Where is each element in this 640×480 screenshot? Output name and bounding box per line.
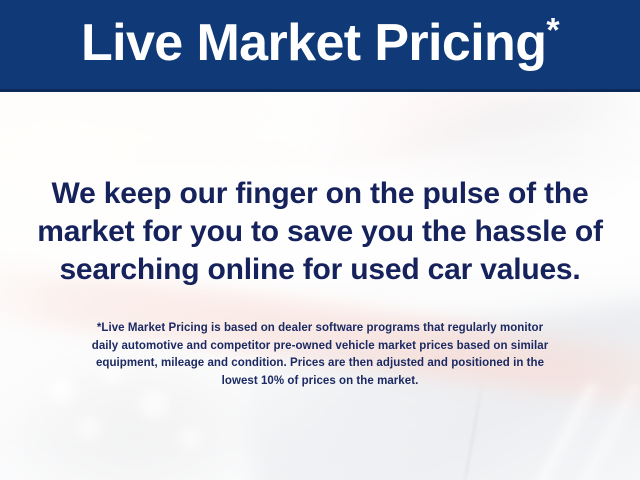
page-title-asterisk: *	[546, 11, 559, 49]
live-market-pricing-banner: Live Market Pricing* We keep our finger …	[0, 0, 640, 480]
headline: We keep our finger on the pulse of the m…	[26, 175, 614, 289]
page-title: Live Market Pricing*	[81, 17, 559, 73]
disclaimer-line-4: lowest 10% of prices on the market.	[28, 373, 612, 391]
content-area: We keep our finger on the pulse of the m…	[0, 92, 640, 480]
disclaimer-text: *Live Market Pricing is based on dealer …	[28, 320, 612, 390]
disclaimer-line-1: *Live Market Pricing is based on dealer …	[28, 320, 612, 338]
page-title-text: Live Market Pricing	[81, 14, 546, 72]
header-bar: Live Market Pricing*	[0, 0, 640, 92]
disclaimer-line-2: daily automotive and competitor pre-owne…	[28, 338, 612, 356]
headline-line-2: market for you to save you the hassle of	[26, 213, 614, 251]
disclaimer-line-3: equipment, mileage and condition. Prices…	[28, 355, 612, 373]
headline-line-3: searching online for used car values.	[26, 251, 614, 289]
headline-line-1: We keep our finger on the pulse of the	[26, 175, 614, 213]
